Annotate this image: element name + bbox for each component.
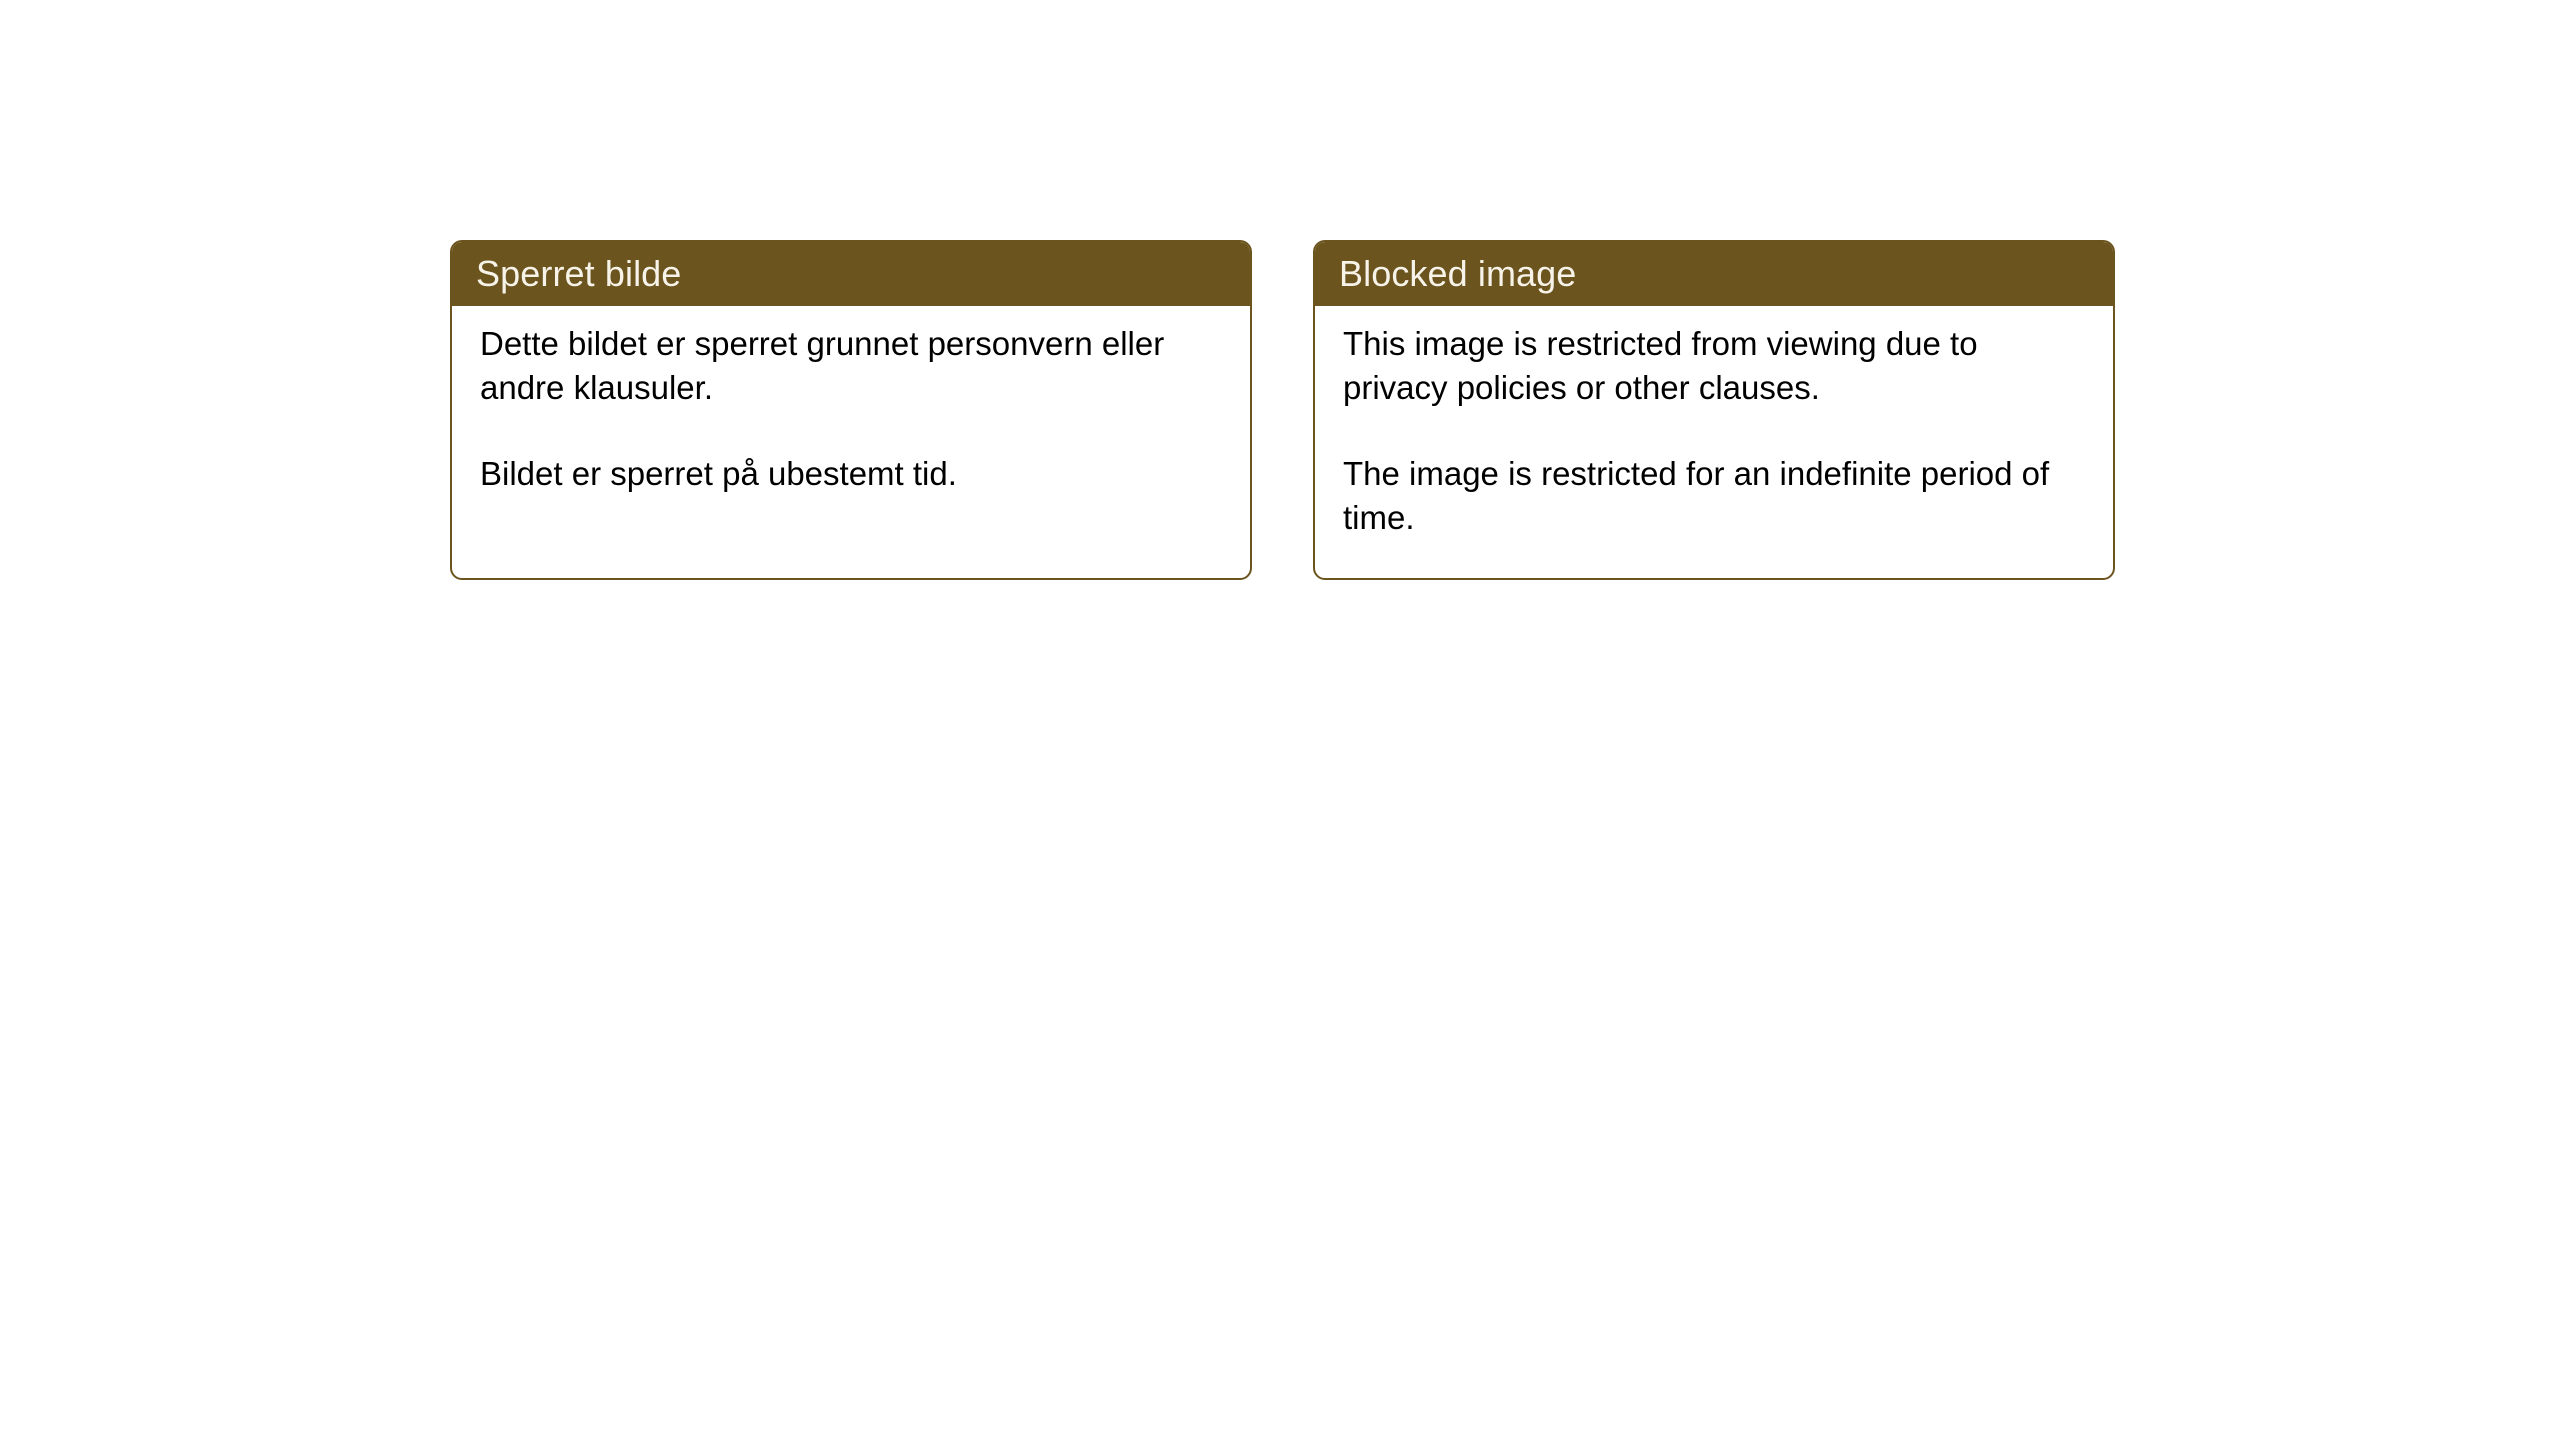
card-title-norwegian: Sperret bilde: [476, 254, 681, 294]
card-header-norwegian: Sperret bilde: [452, 242, 1250, 306]
card-body-english: This image is restricted from viewing du…: [1315, 306, 2113, 540]
blocked-image-card-norwegian: Sperret bilde Dette bildet er sperret gr…: [450, 240, 1252, 580]
blocked-image-card-english: Blocked image This image is restricted f…: [1313, 240, 2115, 580]
page-root: { "theme": { "header_background": "#6b54…: [0, 0, 2560, 1440]
card-body-norwegian: Dette bildet er sperret grunnet personve…: [452, 306, 1250, 496]
card-paragraph-primary-norwegian: Dette bildet er sperret grunnet personve…: [480, 322, 1220, 410]
card-paragraph-secondary-norwegian: Bildet er sperret på ubestemt tid.: [480, 452, 1220, 496]
card-paragraph-primary-english: This image is restricted from viewing du…: [1343, 322, 2083, 410]
card-paragraph-secondary-english: The image is restricted for an indefinit…: [1343, 452, 2083, 540]
card-title-english: Blocked image: [1339, 254, 1576, 294]
card-header-english: Blocked image: [1315, 242, 2113, 306]
